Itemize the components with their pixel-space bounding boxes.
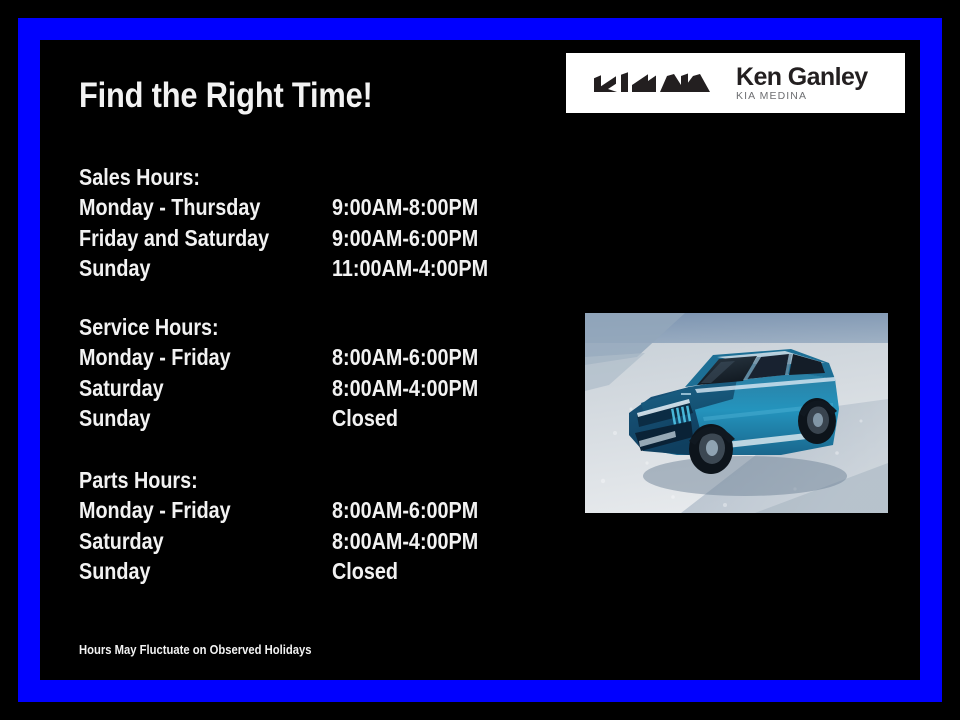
- hours-block-heading: Service Hours:: [79, 312, 492, 342]
- hours-block-parts: Parts Hours: Monday - Friday 8:00AM-6:00…: [79, 465, 559, 587]
- slide-content-area: Find the Right Time! Sales Hours: Monday…: [40, 40, 920, 680]
- hours-row: Monday - Friday 8:00AM-6:00PM: [79, 342, 559, 372]
- holiday-disclaimer: Hours May Fluctuate on Observed Holidays: [79, 643, 312, 657]
- hours-row: Sunday Closed: [79, 403, 559, 433]
- hours-row-day: Sunday: [79, 403, 297, 433]
- hours-row-day: Friday and Saturday: [79, 223, 297, 253]
- dealer-logo-panel: Ken Ganley KIA MEDINA: [566, 53, 905, 113]
- hours-row-day: Sunday: [79, 556, 297, 586]
- hours-row: Sunday Closed: [79, 556, 559, 586]
- hours-row-time: Closed: [332, 403, 398, 433]
- hours-row-time: 8:00AM-6:00PM: [332, 342, 478, 372]
- dealer-logo-text: Ken Ganley KIA MEDINA: [736, 64, 868, 103]
- hours-row-time: 11:00AM-4:00PM: [332, 253, 488, 283]
- hours-block-heading: Parts Hours:: [79, 465, 492, 495]
- hours-row-time: Closed: [332, 556, 398, 586]
- hours-row: Monday - Thursday 9:00AM-8:00PM: [79, 192, 559, 222]
- page-title: Find the Right Time!: [79, 76, 373, 116]
- hours-row-time: 9:00AM-6:00PM: [332, 223, 478, 253]
- hours-row-time: 8:00AM-4:00PM: [332, 373, 478, 403]
- hours-block-heading: Sales Hours:: [79, 162, 492, 192]
- hours-block-sales: Sales Hours: Monday - Thursday 9:00AM-8:…: [79, 162, 559, 284]
- kia-logo-icon: [593, 70, 711, 97]
- dealer-subtitle: KIA MEDINA: [736, 90, 868, 103]
- hours-row-time: 9:00AM-8:00PM: [332, 192, 478, 222]
- hours-row: Saturday 8:00AM-4:00PM: [79, 373, 559, 403]
- hours-block-service: Service Hours: Monday - Friday 8:00AM-6:…: [79, 312, 559, 434]
- hours-row: Saturday 8:00AM-4:00PM: [79, 526, 559, 556]
- hours-row-time: 8:00AM-4:00PM: [332, 526, 478, 556]
- hours-row: Friday and Saturday 9:00AM-6:00PM: [79, 223, 559, 253]
- hours-row-day: Monday - Friday: [79, 342, 297, 372]
- hours-row-day: Saturday: [79, 373, 297, 403]
- hours-row: Sunday 11:00AM-4:00PM: [79, 253, 559, 283]
- hours-row-day: Monday - Thursday: [79, 192, 297, 222]
- vehicle-photo: [585, 313, 888, 513]
- hours-row-day: Monday - Friday: [79, 495, 297, 525]
- hours-row-time: 8:00AM-6:00PM: [332, 495, 478, 525]
- hours-row: Monday - Friday 8:00AM-6:00PM: [79, 495, 559, 525]
- hours-row-day: Sunday: [79, 253, 297, 283]
- dealer-name: Ken Ganley: [736, 64, 868, 90]
- hours-row-day: Saturday: [79, 526, 297, 556]
- slide-root: Find the Right Time! Sales Hours: Monday…: [0, 0, 960, 720]
